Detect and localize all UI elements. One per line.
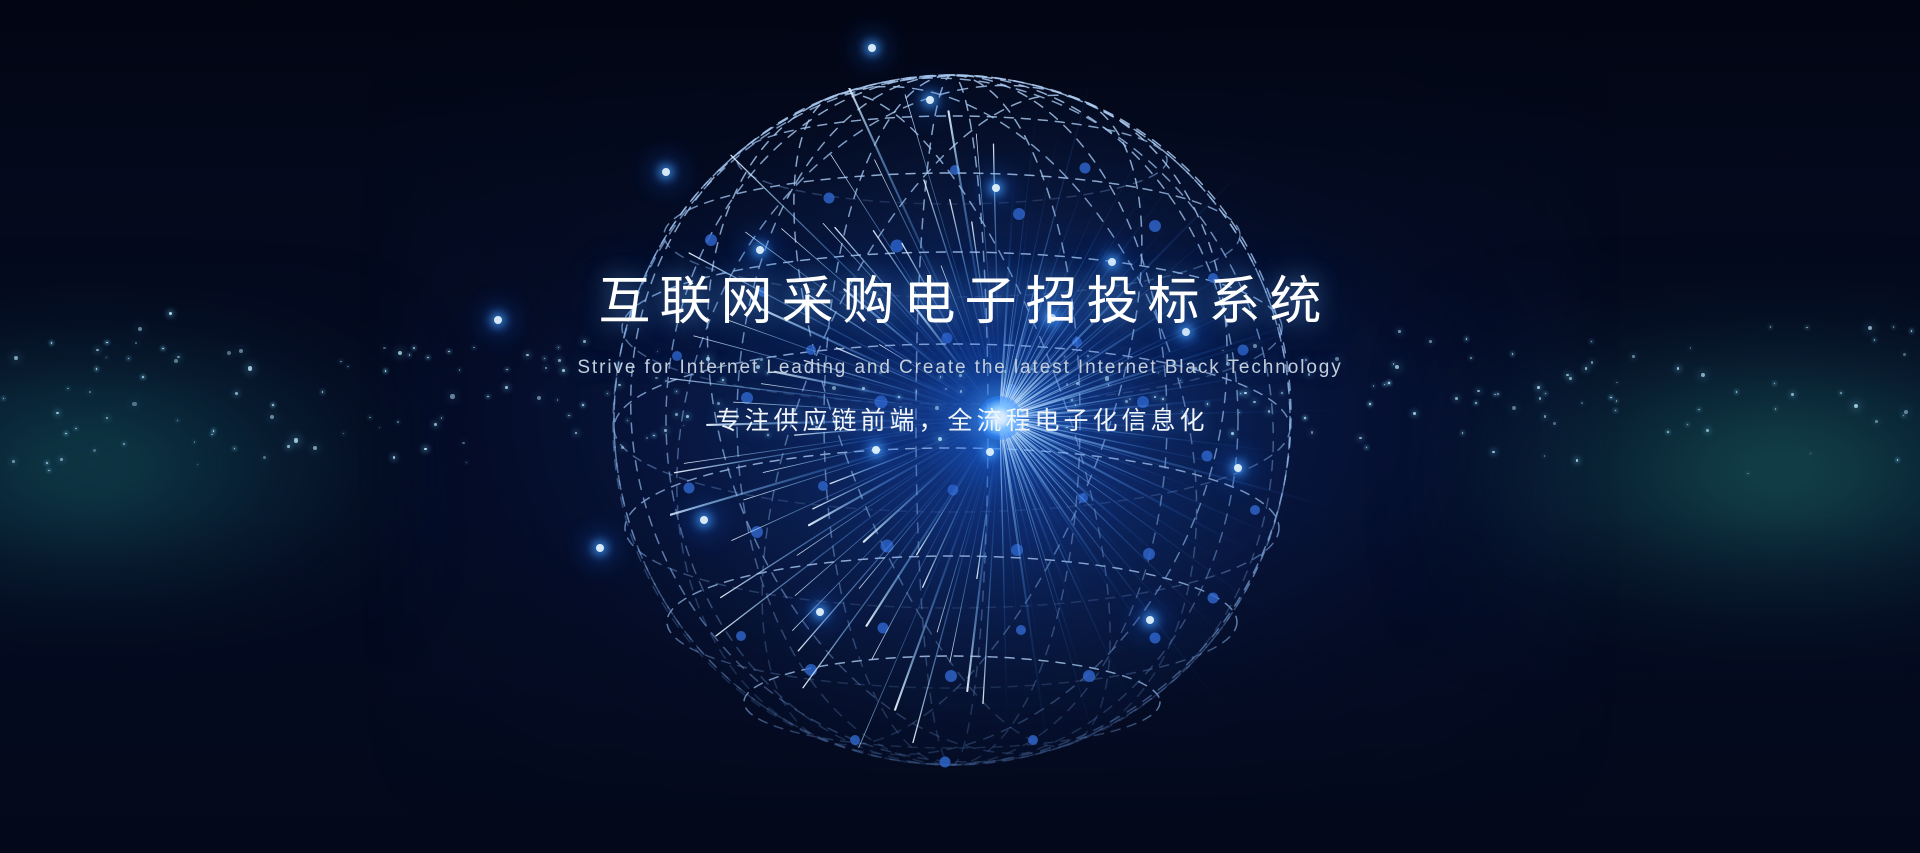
hero-banner: 互联网采购电子招投标系统 Strive for Internet Leading… <box>0 0 1920 853</box>
background-base-gradient <box>0 0 1920 853</box>
